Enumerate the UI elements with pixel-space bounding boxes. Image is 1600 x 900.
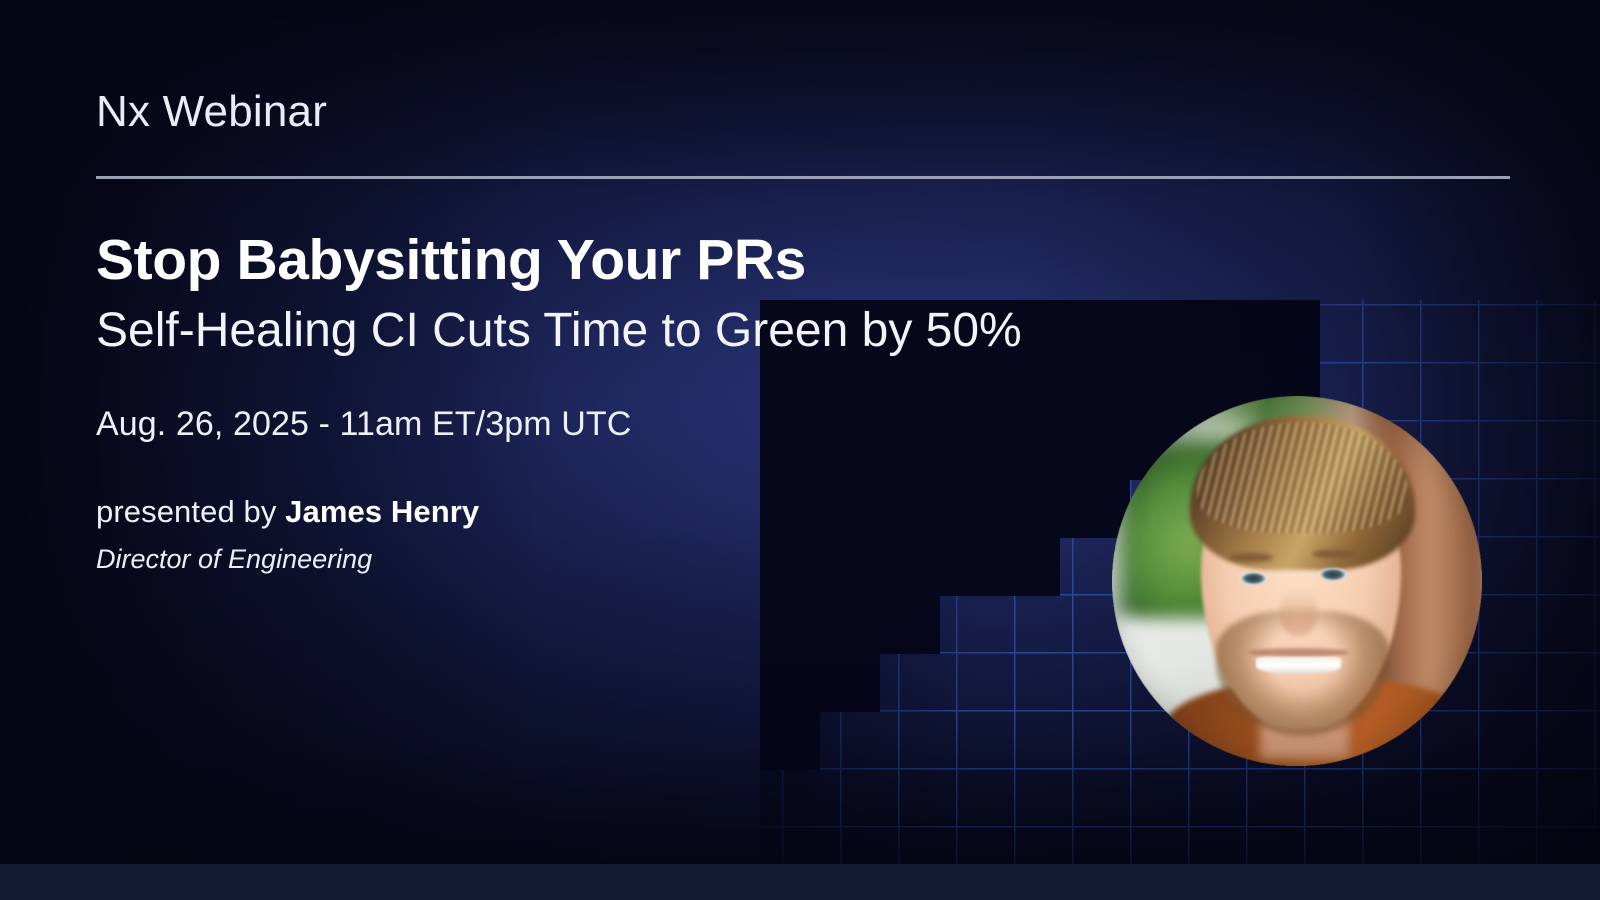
- webinar-promo-slide: Nx Webinar Stop Babysitting Your PRs Sel…: [0, 0, 1600, 900]
- webinar-title: Stop Babysitting Your PRs: [96, 231, 1106, 290]
- presenter-avatar: [1112, 396, 1482, 766]
- presenter-line: presented by James Henry: [96, 494, 1106, 530]
- presented-by-label: presented by: [96, 494, 285, 529]
- presenter-name: James Henry: [285, 494, 479, 529]
- webinar-subtitle: Self-Healing CI Cuts Time to Green by 50…: [96, 303, 1086, 359]
- slide-content: Nx Webinar Stop Babysitting Your PRs Sel…: [96, 0, 1106, 575]
- avatar-soft-overlay: [1112, 396, 1482, 766]
- series-label: Nx Webinar: [96, 88, 1106, 136]
- presenter-role: Director of Engineering: [96, 544, 1106, 575]
- header-divider: [96, 176, 1510, 179]
- webinar-datetime: Aug. 26, 2025 - 11am ET/3pm UTC: [96, 405, 1106, 444]
- footer-strip: [0, 864, 1600, 900]
